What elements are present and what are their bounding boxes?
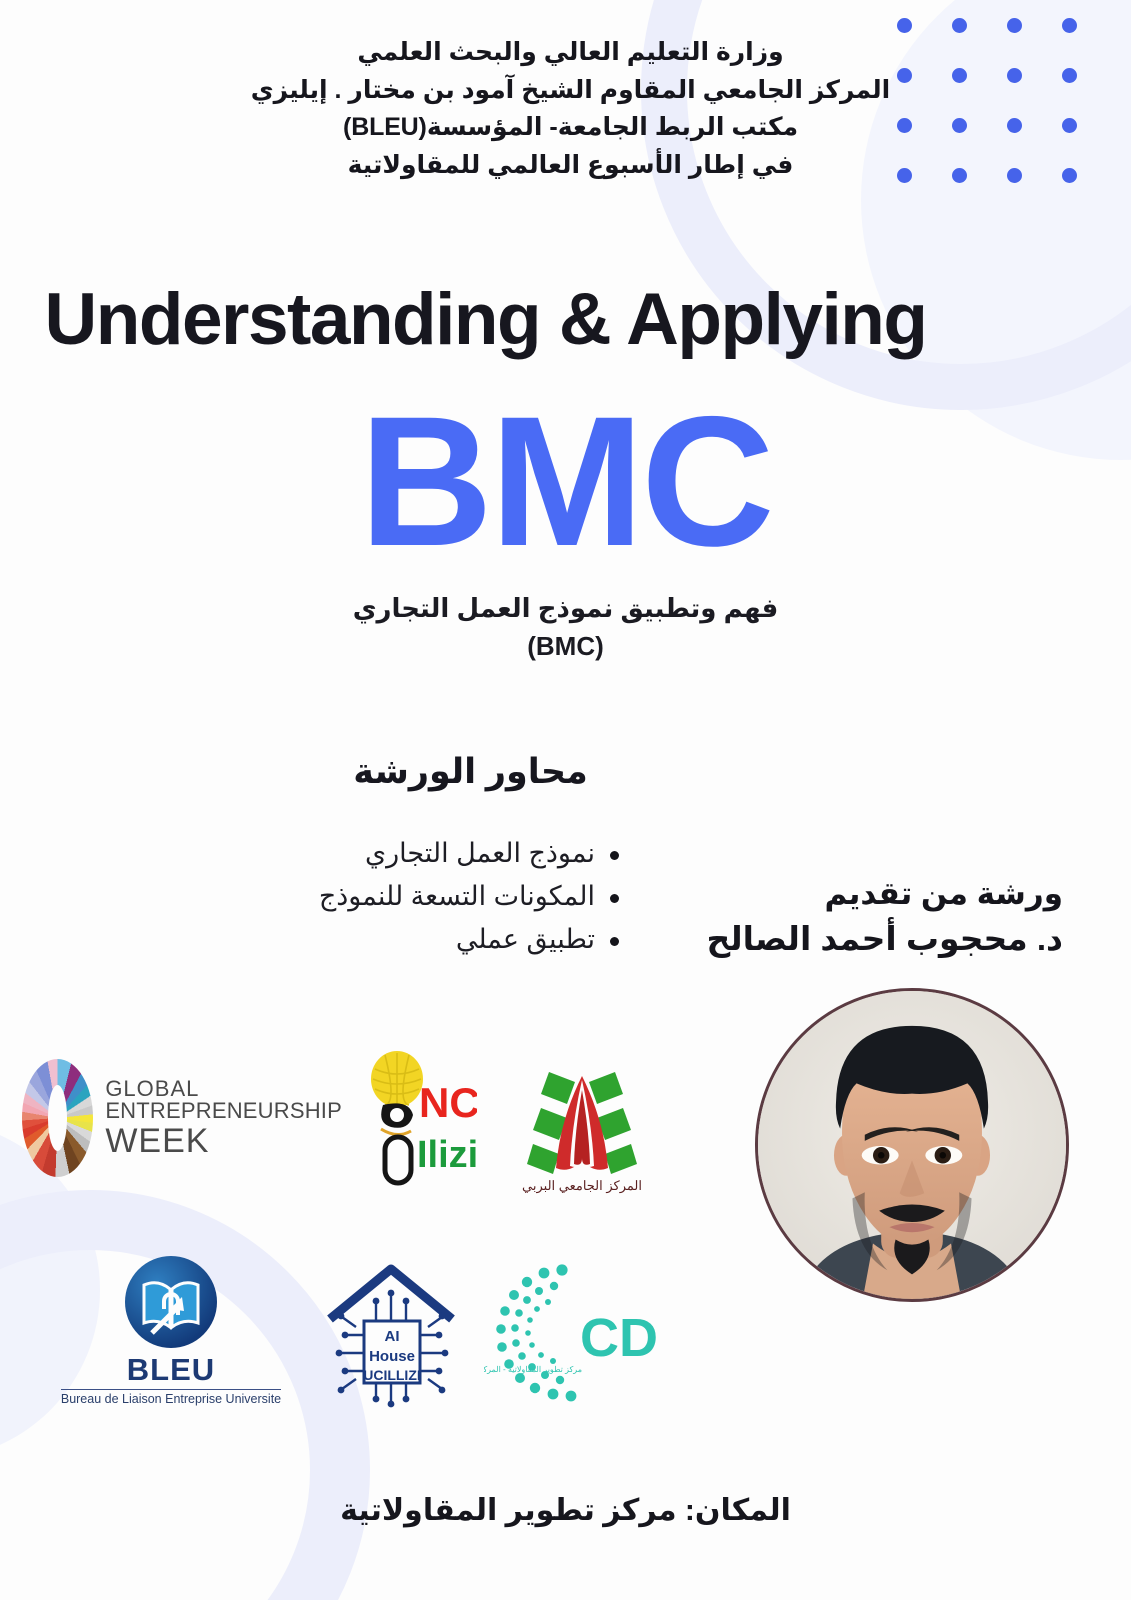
header-institution-block: وزارة التعليم العالي والبحث العلمي المرك… [0,34,1131,184]
partner-logos-row-2: BLEU Bureau de Liaison Entreprise Univer… [36,1248,736,1413]
bleu-book-arrow-icon [125,1256,217,1348]
ai-house-line-1: AI [385,1328,400,1345]
subtitle-line-2: (BMC) [0,628,1131,666]
list-item: المكونات التسعة للنموذج [319,875,623,918]
logo-ai-house: AI House UCILLIZI [306,1248,476,1413]
header-line-1: وزارة التعليم العالي والبحث العلمي [120,34,1021,72]
logo-nc-illizi: NC Ilizi [342,1043,492,1193]
presenter-intro: ورشة من تقديم [706,872,1063,916]
gew-line-1: GLOBAL [105,1078,342,1100]
header-line-2: المركز الجامعي المقاوم الشيخ آمود بن مخت… [120,72,1021,110]
partner-logos-row-1: GLOBAL ENTREPRENEURSHIP WEEK NC Ilizi [22,1040,722,1195]
header-line-3: مكتب الربط الجامعة- المؤسسة(BLEU) [120,109,1021,147]
footer-location: المكان: مركز تطوير المقاولاتية [0,1493,1131,1528]
presenter-avatar [755,988,1069,1302]
presenter-name: د. محجوب أحمد الصالح [706,916,1063,963]
cde-subtitle: مركز تطوير المقاولاتية - المركز الجامعي … [484,1365,582,1374]
ai-house-line-2: House [369,1348,415,1365]
bleu-subtitle: Bureau de Liaison Entreprise Universite [61,1389,281,1406]
portrait-illustration [758,991,1066,1299]
topics-heading: محاور الورشة [0,752,1131,792]
logo-global-entrepreneurship-week: GLOBAL ENTREPRENEURSHIP WEEK [22,1043,342,1193]
poster-canvas: وزارة التعليم العالي والبحث العلمي المرك… [0,0,1131,1600]
header-line-4: في إطار الأسبوع العالمي للمقاولاتية [120,147,1021,185]
university-center-icon: المركز الجامعي البربي [507,1038,657,1198]
logo-cde: CDE مركز تطوير المقاولاتية - المركز الجا… [476,1253,666,1408]
page-title: Understanding & Applying [0,278,1131,361]
subtitle-line-1: فهم وتطبيق نموذج العمل التجاري [0,590,1131,628]
subtitle-arabic: فهم وتطبيق نموذج العمل التجاري (BMC) [0,590,1131,665]
presenter-block: ورشة من تقديم د. محجوب أحمد الصالح [706,872,1063,963]
cde-dotted-circle-icon: CDE مركز تطوير المقاولاتية - المركز الجا… [484,1256,659,1406]
logo-bleu: BLEU Bureau de Liaison Entreprise Univer… [36,1248,306,1413]
gew-line-2: ENTREPRENEURSHIP [105,1100,342,1122]
list-item: تطبيق عملي [319,918,623,961]
list-item: نموذج العمل التجاري [319,832,623,875]
nc-illizi-icon: NC Ilizi [357,1045,477,1190]
svg-text:NC: NC [419,1079,477,1126]
bleu-wordmark: BLEU [127,1352,215,1388]
svg-text:Ilizi: Ilizi [417,1134,477,1176]
ai-house-line-3: UCILLIZI [363,1367,421,1383]
university-center-caption: المركز الجامعي البربي [522,1178,642,1194]
acronym-title: BMC [0,390,1131,575]
gew-wordmark: GLOBAL ENTREPRENEURSHIP WEEK [105,1078,342,1158]
cde-wordmark: CDE [580,1308,659,1368]
ai-house-icon: AI House UCILLIZI [316,1253,466,1408]
topics-list: نموذج العمل التجاري المكونات التسعة للنم… [319,832,623,962]
logo-university-center: المركز الجامعي البربي [492,1035,672,1200]
gew-ring-icon [22,1059,93,1177]
gew-line-3: WEEK [105,1124,342,1158]
